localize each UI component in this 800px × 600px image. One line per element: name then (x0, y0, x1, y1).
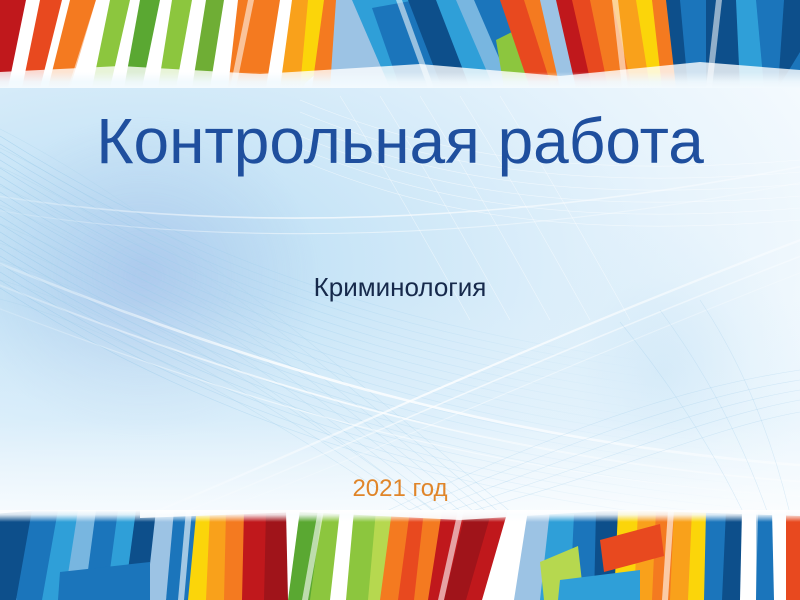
slide-year[interactable]: 2021 год (0, 475, 800, 504)
slide-title[interactable]: Контрольная работа (0, 108, 800, 175)
slide-subtitle[interactable]: Криминология (0, 272, 800, 303)
title-slide: Контрольная работа Криминология 2021 год (0, 0, 800, 600)
background-bottom-fade (0, 300, 800, 540)
top-decorative-band (0, 0, 800, 88)
bottom-decorative-band (0, 510, 800, 600)
